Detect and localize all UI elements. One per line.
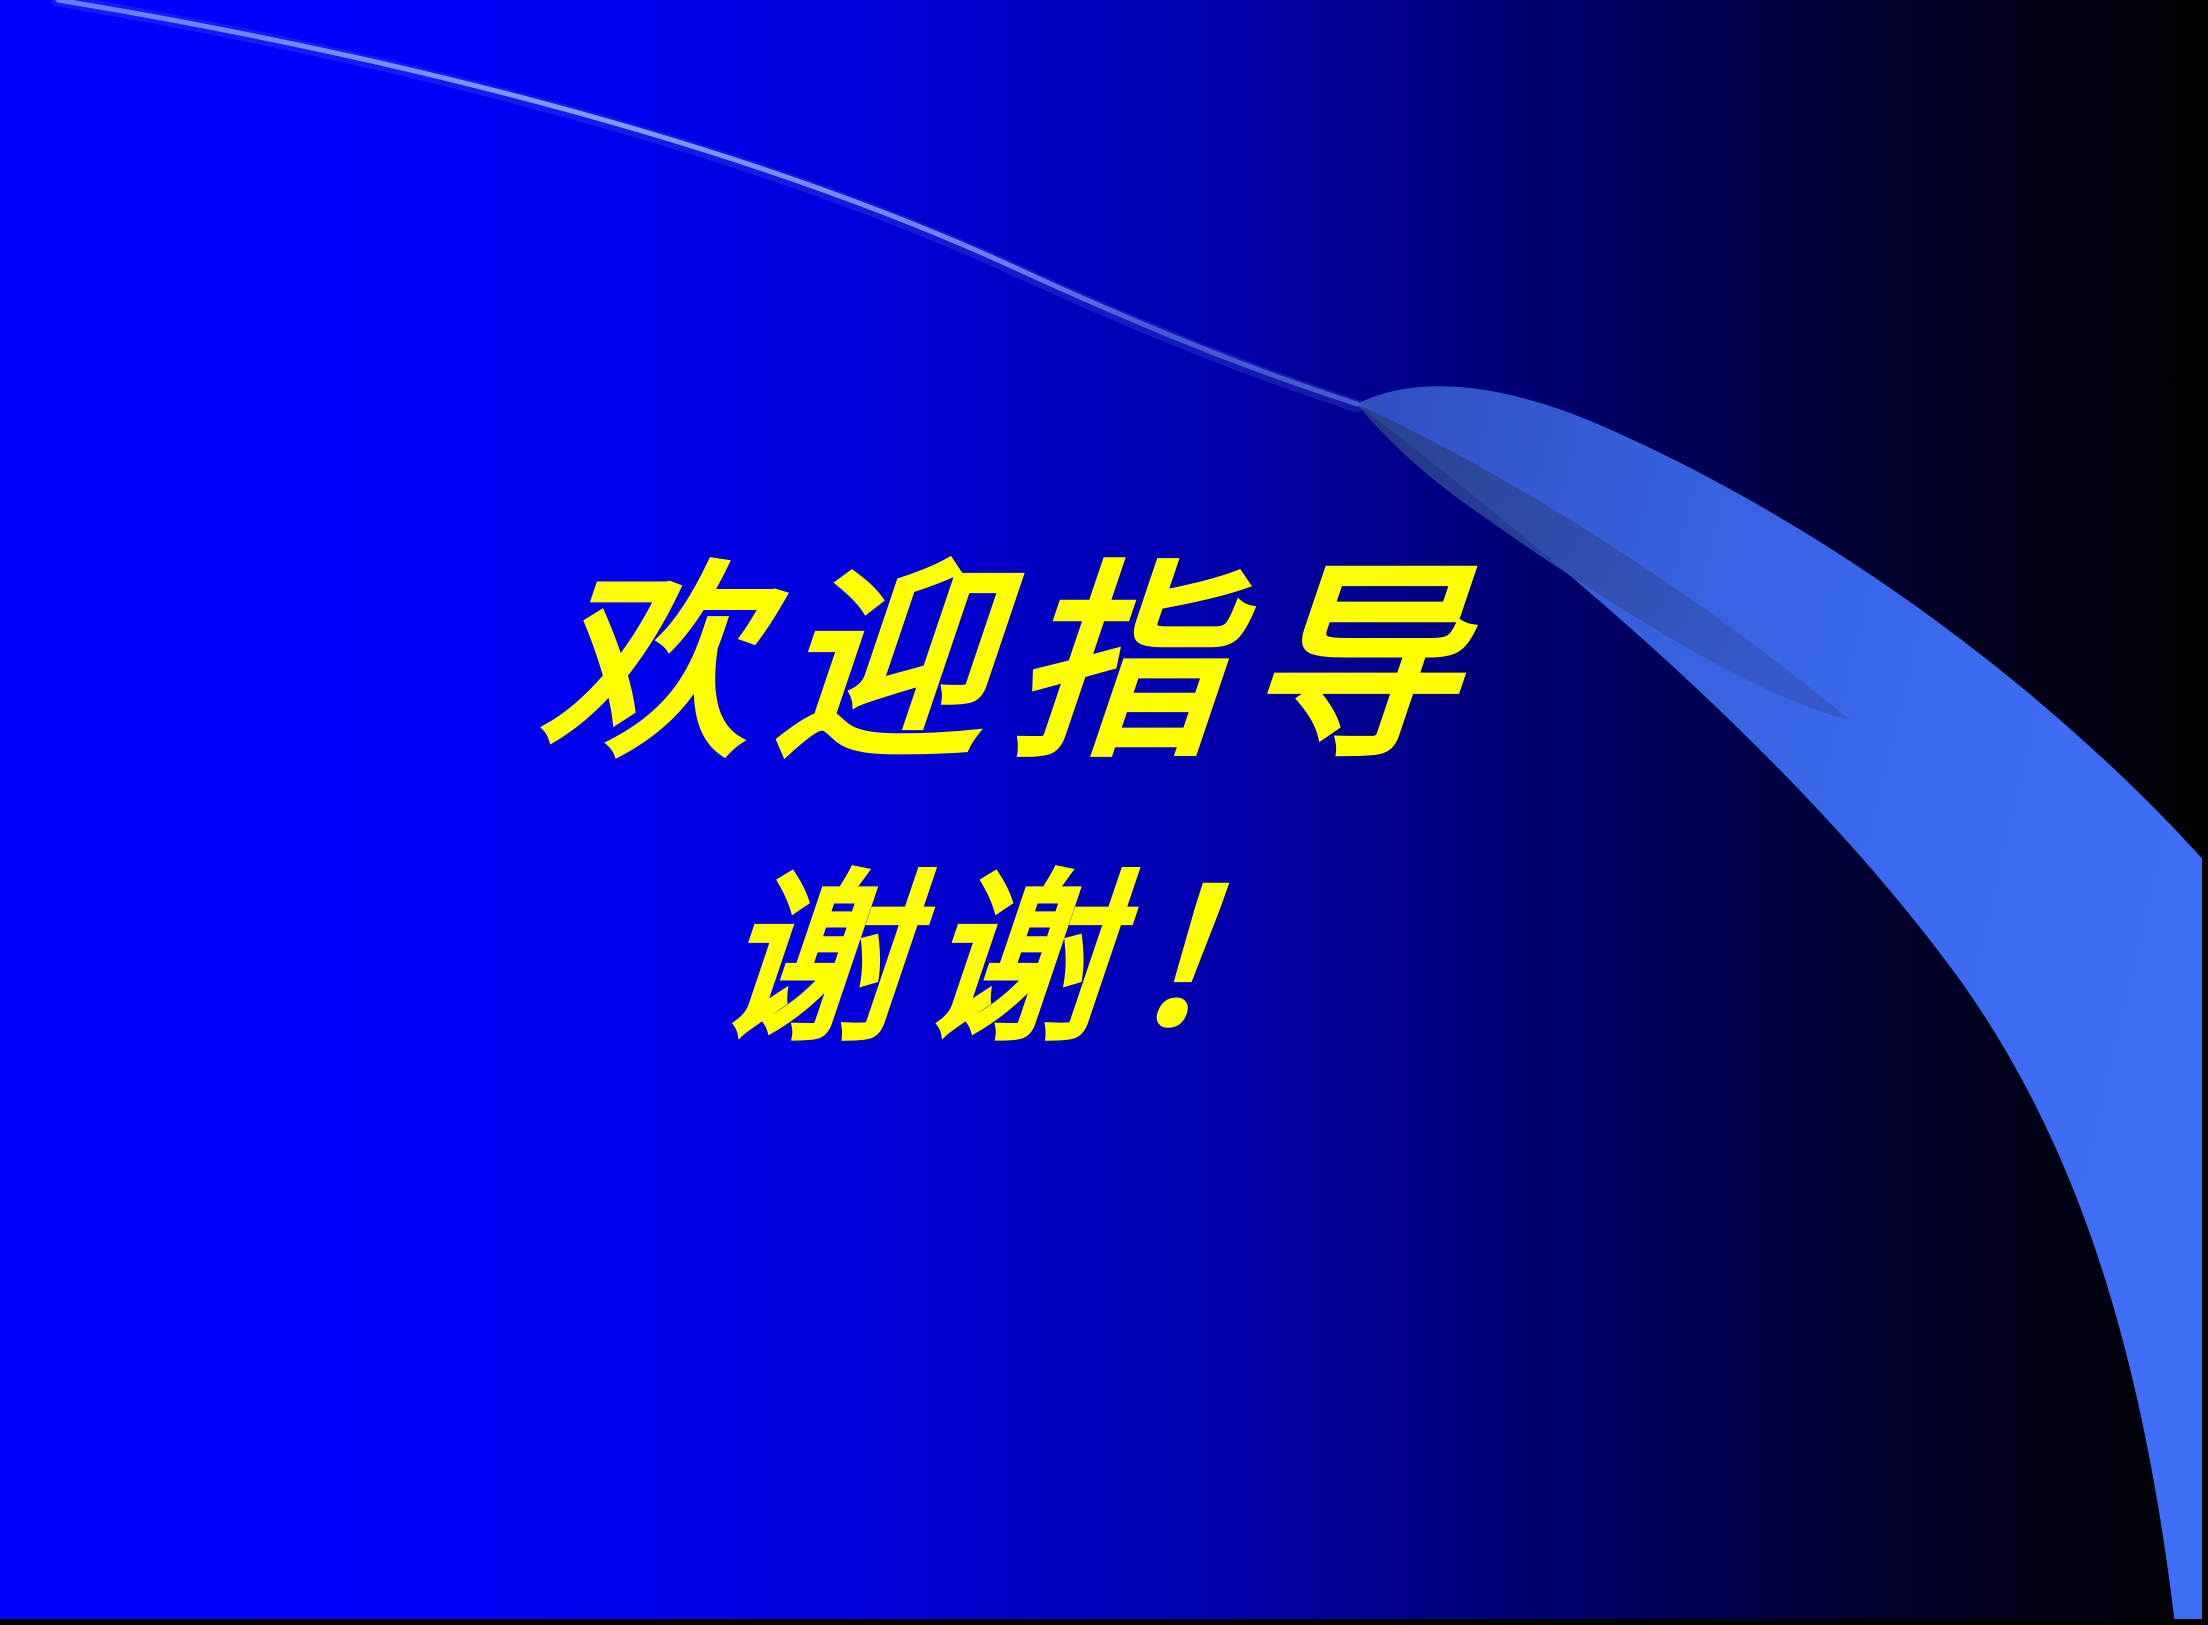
presentation-slide: 欢迎指导 谢谢！ xyxy=(0,0,2208,1625)
slide-edge-right xyxy=(2202,0,2208,1625)
slide-background xyxy=(0,0,2208,1625)
slide-edge-bottom xyxy=(0,1619,2208,1625)
